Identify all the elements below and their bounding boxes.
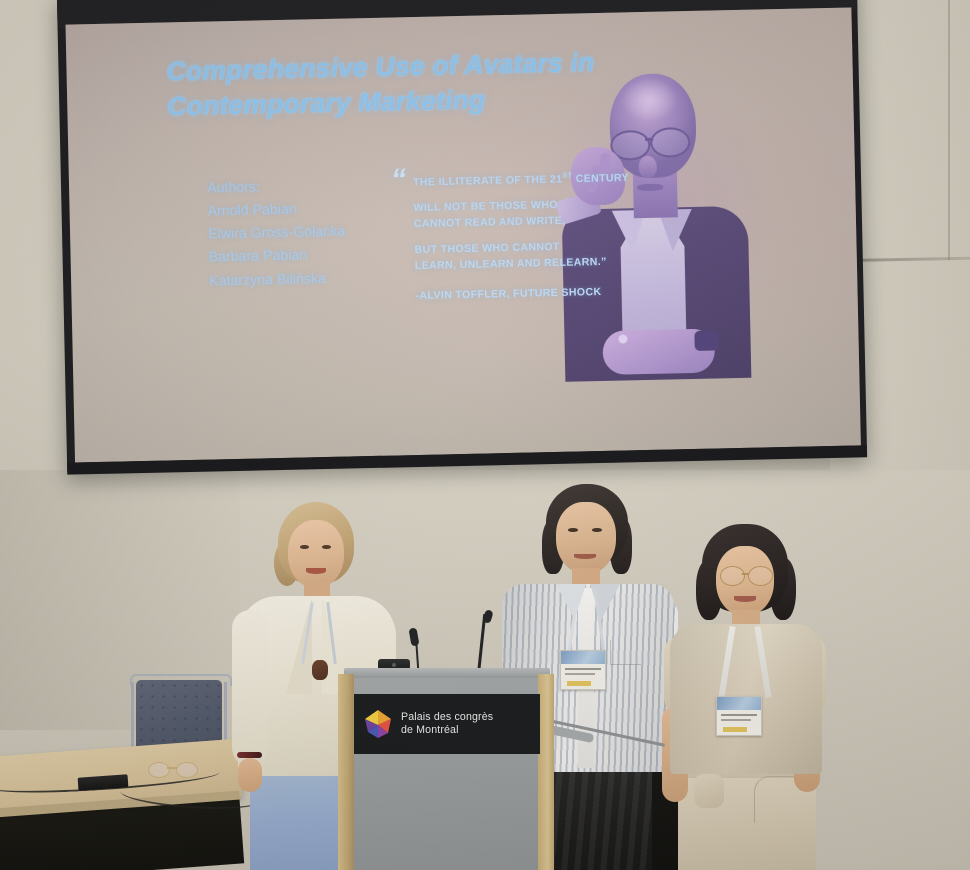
portrait-mouth [637, 184, 663, 192]
lectern-post-right [538, 674, 554, 870]
eye-left [568, 528, 578, 532]
conference-photo: Comprehensive Use of Avatars in Contempo… [0, 0, 970, 870]
mouth [306, 568, 326, 574]
slide-quote: THE ILLITERATE OF THE 21ST CENTURY WILL … [413, 169, 616, 304]
portrait-wristwatch [694, 330, 718, 351]
glasses-right-lens [748, 566, 773, 586]
quote-line-text: THE ILLITERATE OF THE 21 [413, 173, 563, 188]
slide-title-line-2: Contemporary Marketing [167, 85, 486, 122]
conference-badge [716, 696, 762, 736]
arm-left [232, 610, 268, 766]
badge-color-strip [567, 681, 591, 686]
badge-text-line [721, 714, 757, 716]
venue-sign-line-2: de Montréal [401, 724, 459, 736]
mouth [734, 596, 756, 602]
quote-line: LEARN, UNLEARN AND RELEARN.” [415, 254, 615, 275]
badge-header-band [561, 651, 605, 664]
portrait-glasses-bridge [645, 138, 653, 141]
hand-left [238, 758, 262, 792]
badge-color-strip [723, 727, 747, 732]
face [556, 502, 616, 574]
eyeglass-lens-right [176, 762, 198, 778]
venue-sign: Palais des congrès de Montréal [354, 694, 540, 754]
badge-text-line [721, 719, 751, 721]
wall-seam [948, 0, 950, 260]
slide-title: Comprehensive Use of Avatars in Contempo… [166, 44, 637, 125]
quote-superscript: ST [562, 171, 572, 180]
portrait-neck [633, 171, 678, 218]
projection-screen: Comprehensive Use of Avatars in Contempo… [57, 0, 867, 475]
quote-line-text: CENTURY [576, 172, 630, 185]
pendant [312, 660, 328, 680]
glasses-left-lens [720, 566, 745, 586]
conference-badge [560, 650, 606, 690]
bracelet [237, 752, 262, 758]
glasses-bridge [742, 573, 749, 575]
venue-sign-line-1: Palais des congrès [401, 711, 493, 723]
shirt-pocket [610, 640, 641, 665]
lectern-post-left [338, 674, 354, 870]
eye-right [592, 528, 602, 532]
badge-text-line [565, 673, 595, 675]
eyeglass-bridge [167, 767, 177, 769]
badge-header-band [717, 697, 761, 710]
webcam-lens [392, 663, 396, 667]
venue-sign-text: Palais des congrès de Montréal [401, 711, 493, 738]
chair-frame-rail [130, 674, 232, 686]
waist-knot [694, 774, 724, 808]
lectern: Palais des congrès de Montréal [338, 668, 554, 870]
eye-left [300, 545, 309, 549]
slide-title-line-1: Comprehensive Use of Avatars in [166, 47, 594, 86]
mouth [574, 554, 596, 559]
eyeglass-lens-left [148, 762, 170, 778]
palais-des-congres-gem-logo [364, 709, 392, 739]
portrait-nose [639, 156, 657, 178]
quote-open-mark: “ [391, 165, 407, 195]
presenter-right [658, 524, 834, 870]
eye-right [322, 545, 331, 549]
face [288, 520, 344, 588]
eyeglasses-on-table [148, 762, 196, 777]
badge-text-line [565, 668, 601, 670]
